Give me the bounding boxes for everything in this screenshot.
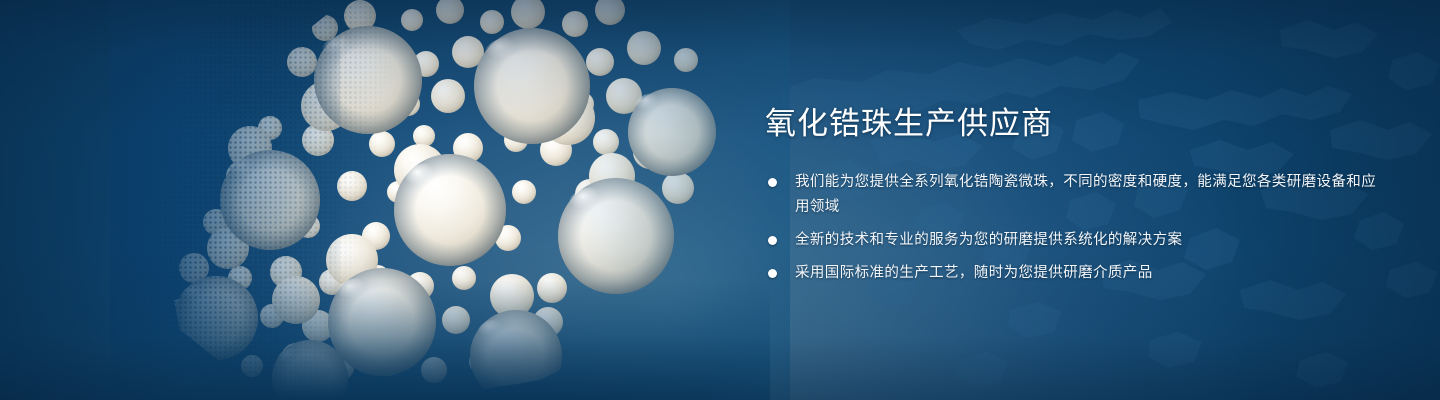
banner-headline: 氧化锆珠生产供应商 xyxy=(765,104,1385,144)
banner-feature-list: 我们能为您提供全系列氧化锆陶瓷微珠，不同的密度和硬度，能满足您各类研磨设备和应用… xyxy=(765,170,1385,286)
bullet-dot-icon xyxy=(768,236,777,245)
bullet-dot-icon xyxy=(768,178,777,187)
feature-list-item: 采用国际标准的生产工艺，随时为您提供研磨介质产品 xyxy=(765,261,1385,286)
banner-copy-block: 氧化锆珠生产供应商 我们能为您提供全系列氧化锆陶瓷微珠，不同的密度和硬度，能满足… xyxy=(765,104,1385,286)
feature-list-item-text: 采用国际标准的生产工艺，随时为您提供研磨介质产品 xyxy=(795,261,1385,286)
feature-list-item: 我们能为您提供全系列氧化锆陶瓷微珠，不同的密度和硬度，能满足您各类研磨设备和应用… xyxy=(765,170,1385,220)
feature-list-item: 全新的技术和专业的服务为您的研磨提供系统化的解决方案 xyxy=(765,228,1385,253)
hero-banner: 氧化锆珠生产供应商 我们能为您提供全系列氧化锆陶瓷微珠，不同的密度和硬度，能满足… xyxy=(0,0,1440,400)
feature-list-item-text: 我们能为您提供全系列氧化锆陶瓷微珠，不同的密度和硬度，能满足您各类研磨设备和应用… xyxy=(795,170,1385,220)
bullet-dot-icon xyxy=(768,269,777,278)
feature-list-item-text: 全新的技术和专业的服务为您的研磨提供系统化的解决方案 xyxy=(795,228,1385,253)
